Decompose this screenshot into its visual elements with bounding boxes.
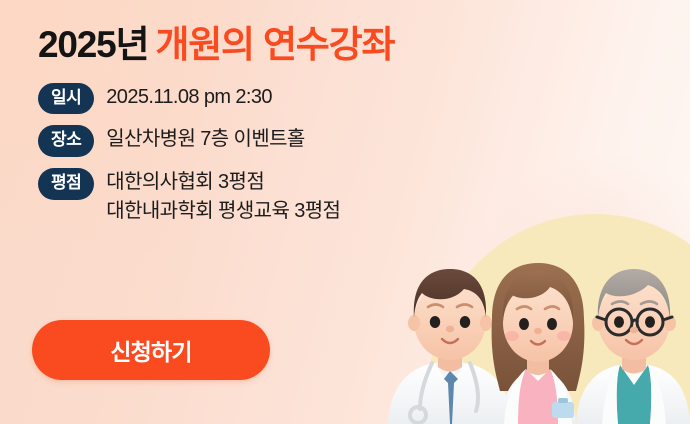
banner-content: 2025년개원의 연수강좌 일시 2025.11.08 pm 2:30 장소 일… (38, 24, 468, 225)
badge-credits-label: 평점 (38, 168, 94, 200)
info-list: 일시 2025.11.08 pm 2:30 장소 일산차병원 7층 이벤트홀 평… (38, 81, 468, 226)
promo-banner: 2025년개원의 연수강좌 일시 2025.11.08 pm 2:30 장소 일… (0, 0, 690, 424)
info-row-date: 일시 2025.11.08 pm 2:30 (38, 81, 468, 115)
blush-left (505, 331, 519, 341)
info-value-credits: 대한의사협회 3평점 대한내과학회 평생교육 3평점 (106, 166, 340, 225)
badge-date-label: 일시 (38, 83, 94, 115)
eye-left (614, 316, 624, 328)
eye-left (430, 316, 440, 328)
eye-left (519, 318, 529, 330)
eye-right (547, 318, 557, 330)
blush-right (557, 331, 571, 341)
senior-doctor-figure (576, 269, 690, 424)
female-doctor-figure (492, 263, 585, 424)
doctors-illustration (380, 259, 690, 424)
banner-title: 2025년개원의 연수강좌 (38, 24, 468, 67)
doctors-svg (380, 259, 690, 424)
eye-right (645, 316, 655, 328)
info-value-date: 2025.11.08 pm 2:30 (106, 81, 272, 111)
title-main: 개원의 연수강좌 (155, 24, 394, 65)
badge-location-label: 장소 (38, 125, 94, 157)
info-row-location: 장소 일산차병원 7층 이벤트홀 (38, 123, 468, 157)
title-year: 2025년 (38, 24, 148, 65)
info-value-location: 일산차병원 7층 이벤트홀 (106, 123, 304, 153)
name-badge (552, 402, 574, 418)
info-row-credits: 평점 대한의사협회 3평점 대한내과학회 평생교육 3평점 (38, 166, 468, 225)
apply-button[interactable]: 신청하기 (32, 320, 270, 380)
eye-right (460, 316, 470, 328)
